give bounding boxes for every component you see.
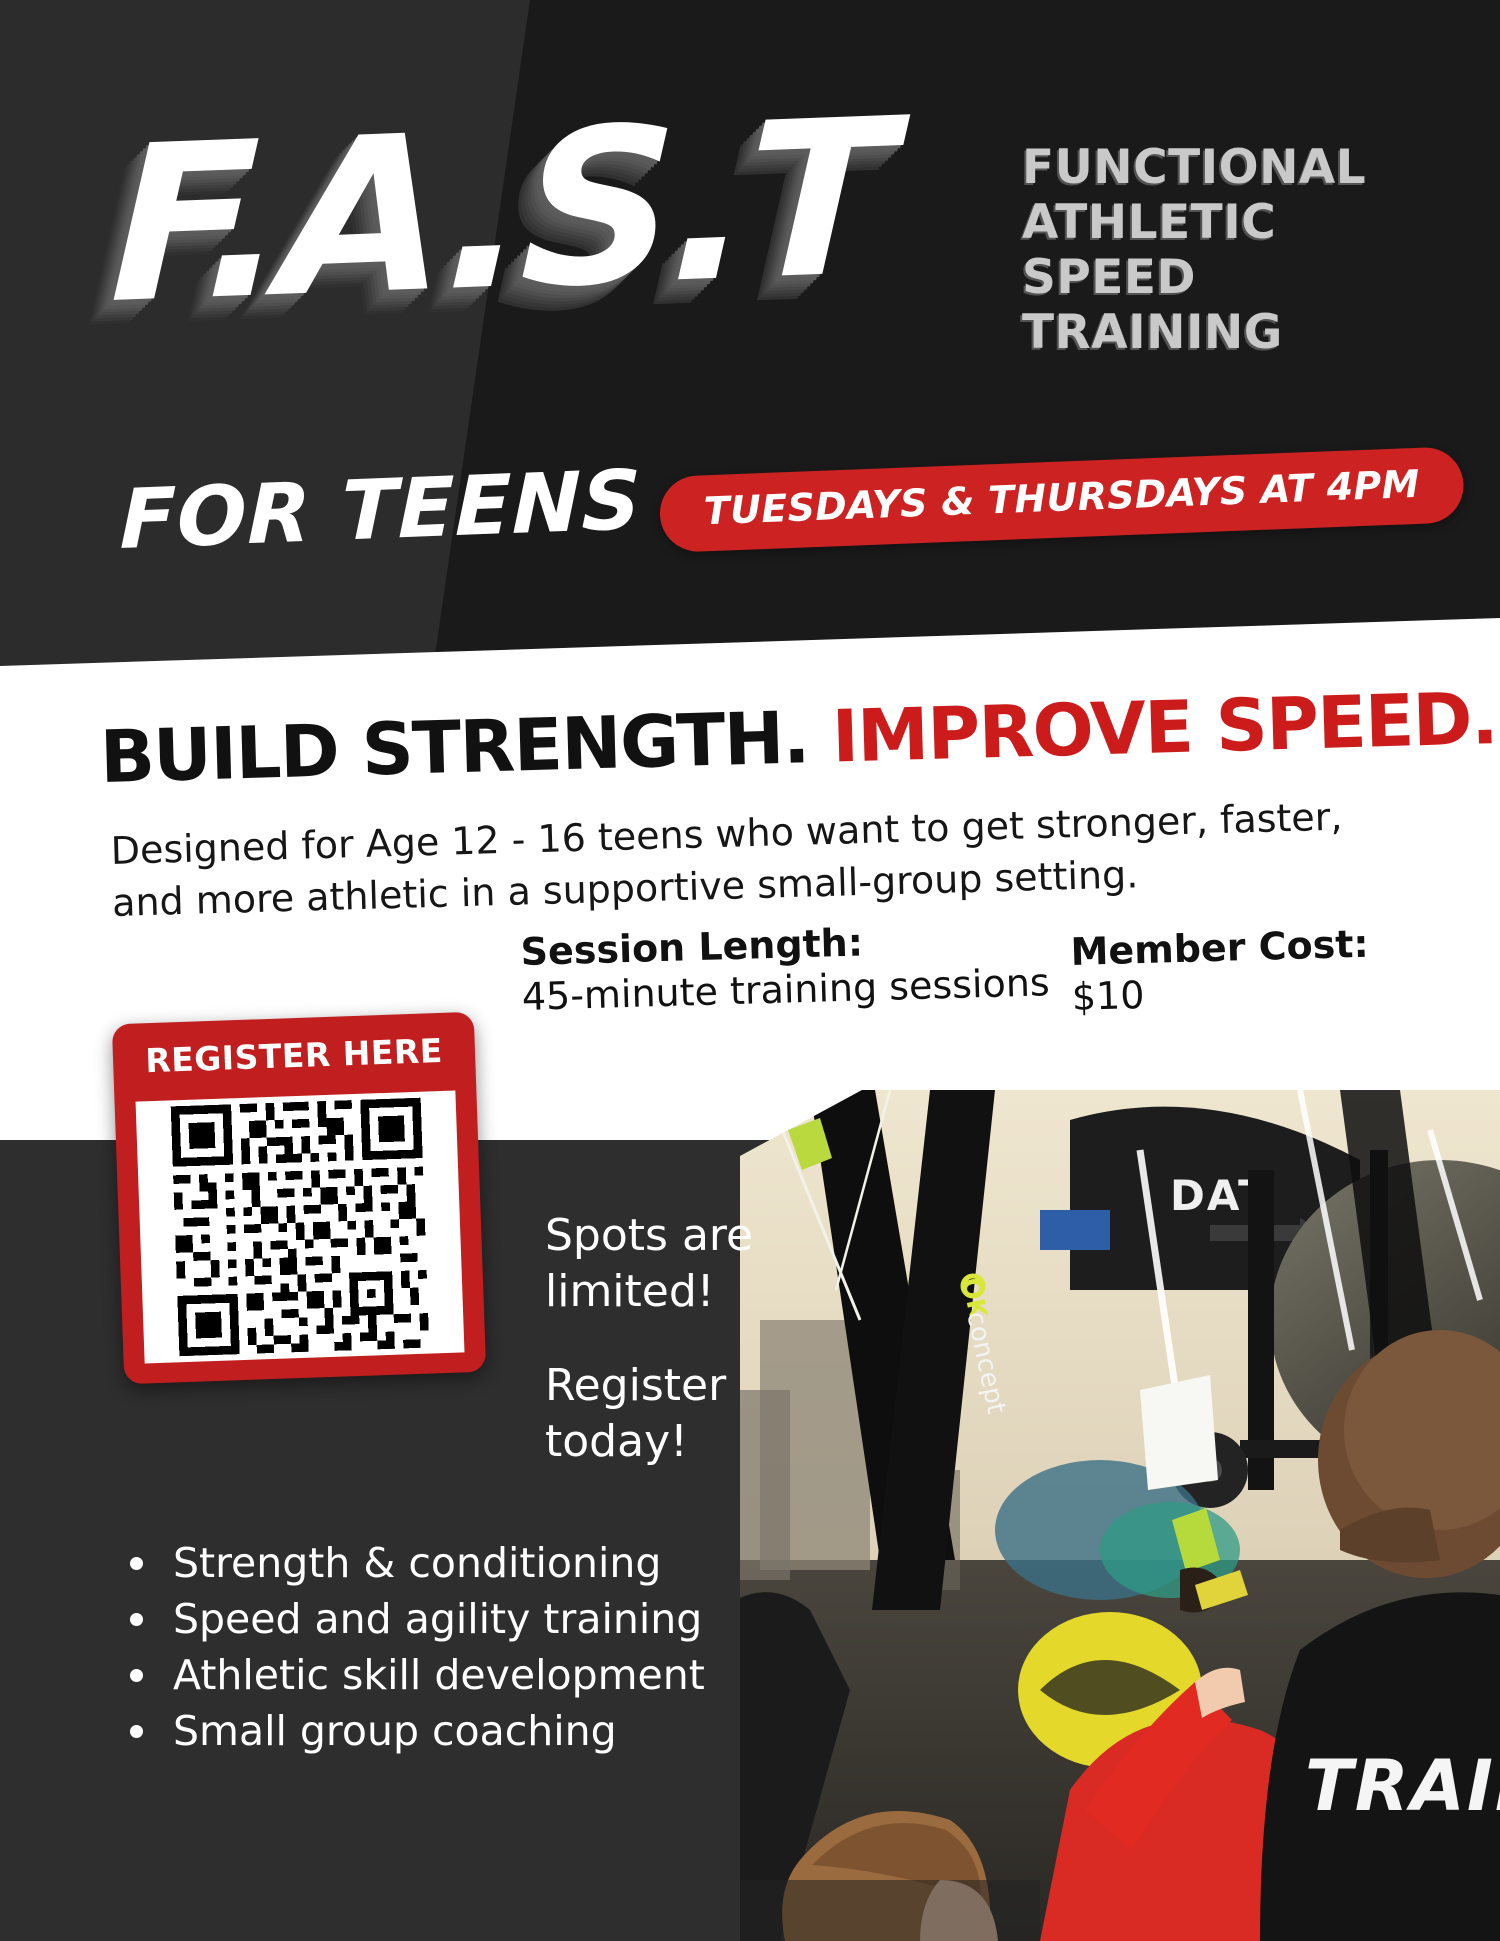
- logo-wordmark: F.A.S.T: [108, 91, 857, 333]
- for-teens-subtitle: FOR TEENS: [119, 460, 642, 562]
- acronym-expansion: FUNCTIONAL ATHLETIC SPEED TRAINING: [1022, 140, 1366, 360]
- photo-artwork: DAT OK concept: [740, 1090, 1500, 1941]
- page-headline: BUILD STRENGTH. IMPROVE SPEED.: [99, 681, 1498, 794]
- schedule-badge: TUESDAYS & THURSDAYS AT 4PM: [659, 446, 1466, 553]
- gym-training-photo: DAT OK concept: [740, 1090, 1500, 1941]
- availability-callout: Spots are limited! Register today!: [545, 1208, 753, 1470]
- hero-section: F.A.S.T FUNCTIONAL ATHLETIC SPEED TRAINI…: [0, 0, 1500, 690]
- spots-line-2: limited!: [545, 1264, 753, 1320]
- program-description: Designed for Age 12 - 16 teens who want …: [110, 790, 1372, 929]
- list-item: Athletic skill development: [120, 1647, 705, 1703]
- list-item: Speed and agility training: [120, 1591, 705, 1647]
- headline-part-improve: IMPROVE SPEED.: [831, 676, 1498, 779]
- list-item: Small group coaching: [120, 1703, 705, 1759]
- session-length-block: Session Length: 45-minute training sessi…: [520, 915, 1050, 1020]
- register-line-1: Register: [545, 1358, 753, 1414]
- svg-text:TRAIN: TRAIN: [1305, 1745, 1500, 1827]
- acronym-line-training: TRAINING: [1022, 305, 1366, 360]
- member-cost-block: Member Cost: $10: [1070, 922, 1371, 1020]
- acronym-line-athletic: ATHLETIC: [1022, 195, 1366, 250]
- member-cost-value: $10: [1071, 966, 1370, 1020]
- member-cost-title: Member Cost:: [1070, 922, 1369, 974]
- callout-spacer: [545, 1320, 753, 1358]
- qr-code-svg: [142, 1097, 459, 1358]
- qr-register-card[interactable]: REGISTER HERE: [112, 1012, 486, 1384]
- qr-code-icon[interactable]: [136, 1090, 465, 1363]
- acronym-line-functional: FUNCTIONAL: [1022, 140, 1366, 195]
- spots-line-1: Spots are: [545, 1208, 753, 1264]
- acronym-line-speed: SPEED: [1022, 250, 1366, 305]
- schedule-badge-label: TUESDAYS & THURSDAYS AT 4PM: [703, 462, 1420, 533]
- flyer-page: F.A.S.T FUNCTIONAL ATHLETIC SPEED TRAINI…: [0, 0, 1500, 1941]
- qr-card-label: REGISTER HERE: [112, 1030, 475, 1082]
- list-item: Strength & conditioning: [120, 1535, 705, 1591]
- register-line-2: today!: [545, 1414, 753, 1470]
- program-features-list: Strength & conditioning Speed and agilit…: [120, 1535, 705, 1759]
- logo-wordmark-wrap: F.A.S.T: [108, 118, 848, 388]
- headline-part-build: BUILD STRENGTH.: [99, 695, 810, 799]
